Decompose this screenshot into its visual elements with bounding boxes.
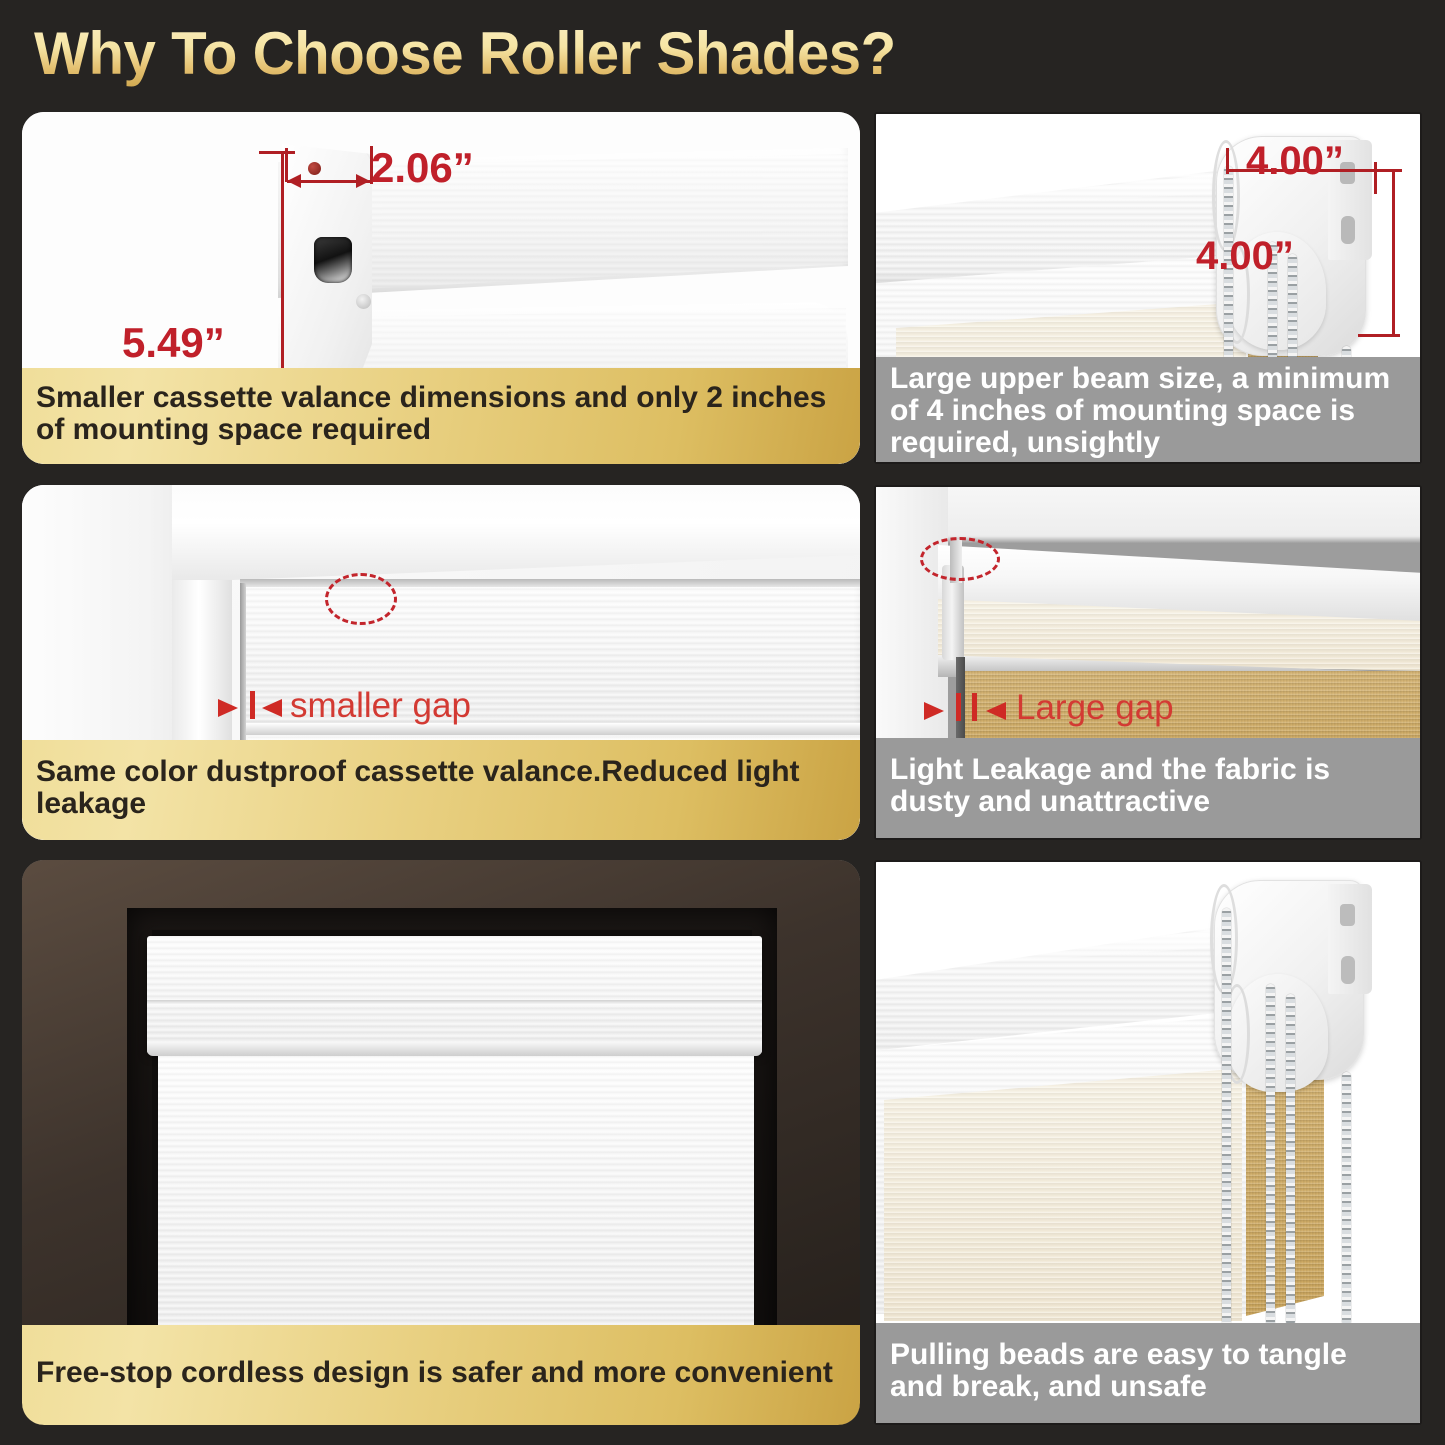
p2-width-tick-left: [1226, 148, 1229, 174]
window-frame-top: [172, 485, 860, 580]
large-bracket-slot-2: [1341, 216, 1355, 244]
gap-arrow-right-head: [262, 699, 282, 717]
gap-marker-bar-b: [972, 693, 977, 721]
gap-marker-bar-a: [956, 693, 961, 721]
panel-cordless-design: Free-stop cordless design is safer and m…: [22, 860, 860, 1425]
width-dimension-label: 2.06”: [371, 144, 474, 192]
panel-dustproof-valance: smaller gap Same color dustproof cassett…: [22, 485, 860, 840]
valance-seam: [147, 1000, 762, 1005]
panel-pulling-beads: Pulling beads are easy to tangle and bre…: [874, 860, 1422, 1425]
bracket-slot: [314, 237, 352, 283]
gap-arrow-left-head: [218, 699, 238, 717]
highlight-circle: [920, 537, 1000, 581]
bracket-screw-upper: [318, 257, 319, 258]
p2-width-dimension-label: 4.00”: [1246, 139, 1344, 184]
panel-4-caption: Light Leakage and the fabric is dusty an…: [876, 738, 1420, 838]
p2-height-dimension-label: 4.00”: [1196, 234, 1294, 279]
highlight-circle: [325, 573, 397, 625]
panel-light-leakage: Large gap Light Leakage and the fabric i…: [874, 485, 1422, 840]
wall-top-band: [876, 487, 1420, 535]
gap-arrow-left-head: [924, 702, 944, 720]
panel-3-caption-text: Same color dustproof cassette valance.Re…: [36, 756, 846, 820]
panel-4-caption-text: Light Leakage and the fabric is dusty an…: [890, 754, 1406, 818]
panel-2-caption-text: Large upper beam size, a minimum of 4 in…: [890, 363, 1406, 458]
large-bracket-slot-1: [1340, 904, 1355, 926]
panel-6-caption-text: Pulling beads are easy to tangle and bre…: [890, 1339, 1406, 1403]
shade-fabric-panel: [158, 1056, 754, 1348]
valance-bottom-lip: [147, 1042, 762, 1056]
height-dim-tick-top: [259, 151, 295, 154]
bead-chain-3: [1286, 994, 1295, 1326]
panel-5-caption-text: Free-stop cordless design is safer and m…: [36, 1357, 846, 1389]
p2-height-dim-line: [1392, 170, 1395, 336]
panel-2-caption: Large upper beam size, a minimum of 4 in…: [876, 357, 1420, 462]
bead-chain-4: [1342, 1072, 1351, 1326]
bead-chain-1: [1222, 908, 1231, 1326]
bead-chain-2: [1266, 984, 1275, 1326]
width-dim-arrow-left: [287, 174, 301, 188]
p2-height-tick-bottom: [1358, 334, 1400, 337]
gap-arrow-right-head: [986, 702, 1006, 720]
wall-left-strip: [876, 487, 948, 772]
panel-smaller-cassette: 2.06” 5.49” Smaller cassette valance dim…: [22, 112, 860, 464]
valance-headrail: [147, 936, 762, 1054]
width-dim-arrow-right: [356, 174, 370, 188]
panel-3-caption: Same color dustproof cassette valance.Re…: [22, 740, 860, 840]
gap-marker-bar: [250, 691, 255, 719]
shade-fabric-beige: [884, 1068, 1242, 1321]
p2-width-tick-right: [1374, 162, 1377, 194]
panel-1-caption-text: Smaller cassette valance dimensions and …: [36, 382, 846, 446]
panel-6-caption: Pulling beads are easy to tangle and bre…: [876, 1323, 1420, 1423]
height-dimension-label: 5.49”: [122, 319, 225, 367]
title-bar: Why To Choose Roller Shades?: [0, 0, 1445, 106]
bracket-screw-mid: [356, 294, 371, 309]
panel-1-caption: Smaller cassette valance dimensions and …: [22, 368, 860, 464]
large-bracket-slot-2: [1341, 956, 1355, 984]
bracket-pin: [308, 162, 321, 175]
p2-height-tick-top: [1370, 169, 1402, 172]
panel-5-caption: Free-stop cordless design is safer and m…: [22, 1325, 860, 1425]
gap-callout-label: smaller gap: [290, 686, 471, 726]
page-title: Why To Choose Roller Shades?: [34, 19, 896, 88]
panel-large-upper-beam: 4.00” 4.00” Large upper beam size, a min…: [874, 112, 1422, 464]
gap-callout-label: Large gap: [1016, 688, 1174, 728]
